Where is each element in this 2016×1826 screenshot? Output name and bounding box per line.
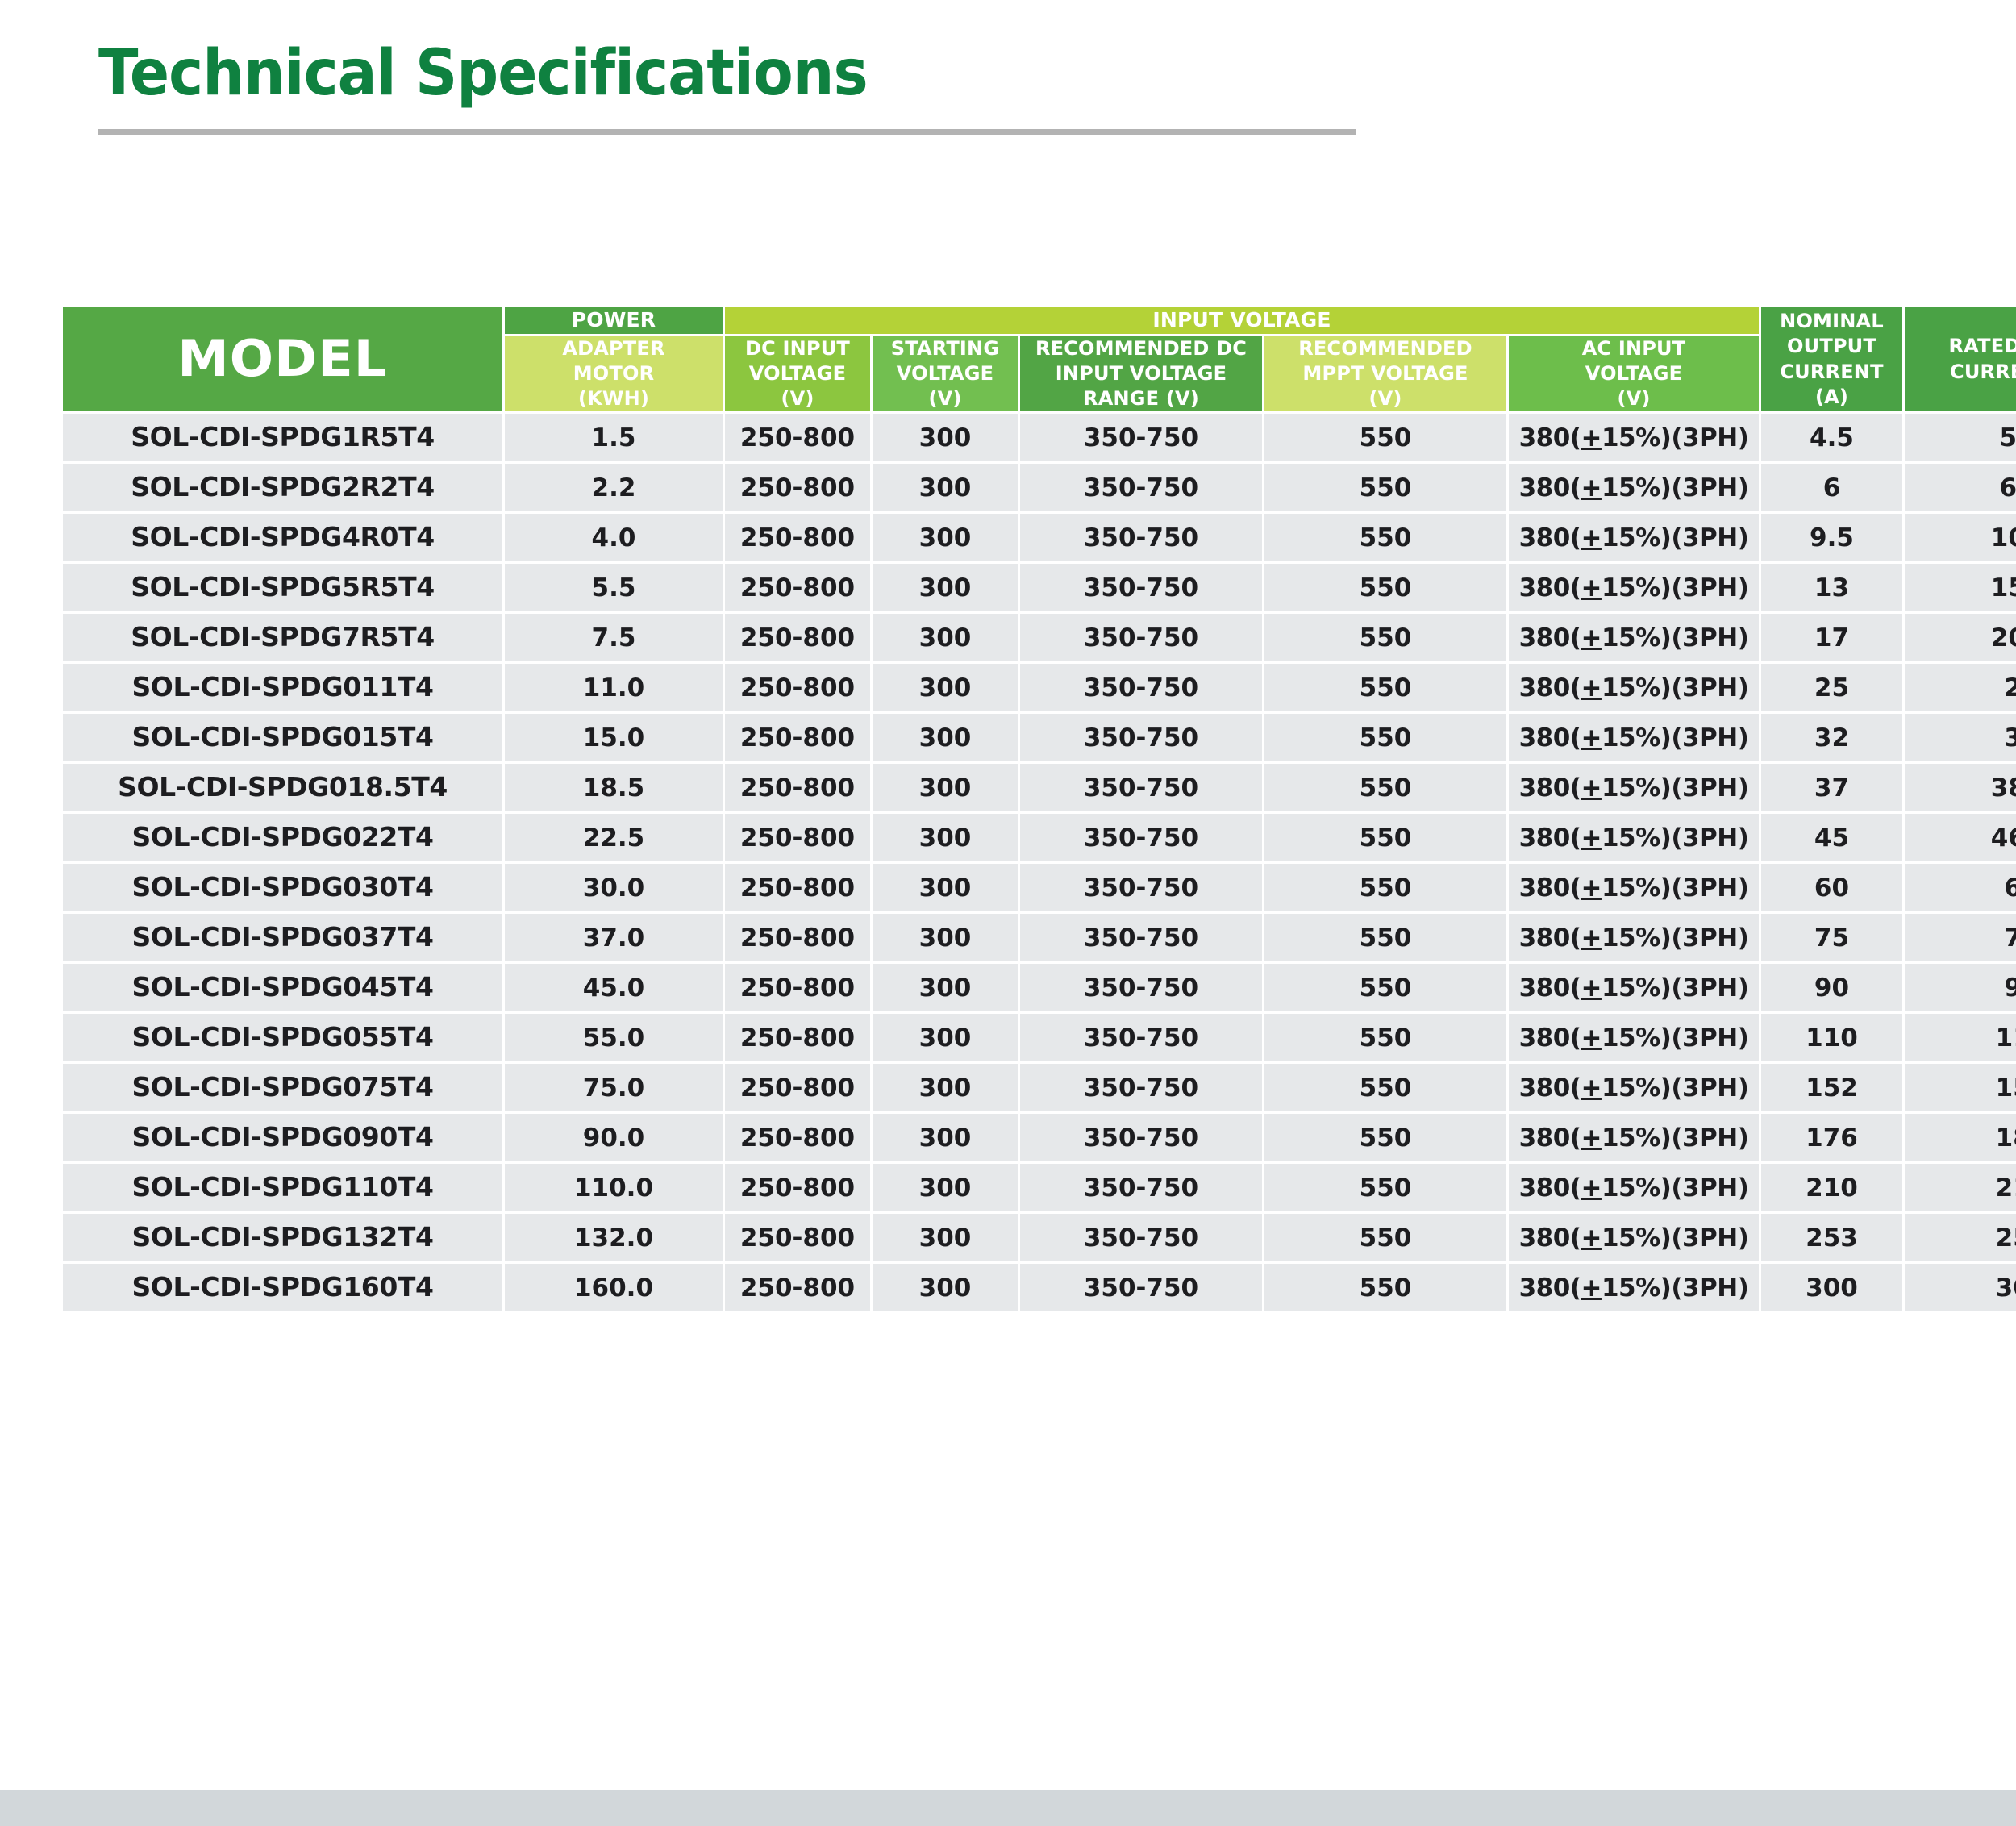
header-group-row: MODEL POWER INPUT VOLTAGE NOMINAL OUTPUT… — [63, 307, 2016, 334]
header-acin-line-2: (V) — [1509, 386, 1759, 411]
header-ac-input-voltage: AC INPUT VOLTAGE (V) — [1509, 336, 1759, 412]
table-head: MODEL POWER INPUT VOLTAGE NOMINAL OUTPUT… — [63, 307, 2016, 411]
header-dcin-line-0: DC INPUT — [725, 336, 870, 361]
cell-rated-input-current: 62 — [1905, 864, 2016, 911]
cell-nominal-output-current: 32 — [1761, 714, 1902, 761]
cell-model: SOL-CDI-SPDG132T4 — [63, 1214, 502, 1261]
cell-dc-input-voltage: 250-800 — [725, 814, 870, 861]
cell-model: SOL-CDI-SPDG2R2T4 — [63, 464, 502, 511]
cell-nominal-output-current: 9.5 — [1761, 514, 1902, 561]
cell-model: SOL-CDI-SPDG5R5T4 — [63, 564, 502, 611]
plus-minus-symbol: + — [1581, 623, 1601, 652]
cell-adapter-motor: 1.5 — [505, 414, 723, 461]
cell-ac-input-voltage: 380(+15%)(3PH) — [1509, 1264, 1759, 1311]
header-adapter-line-1: MOTOR — [505, 361, 723, 386]
cell-adapter-motor: 132.0 — [505, 1214, 723, 1261]
cell-ac-input-voltage: 380(+15%)(3PH) — [1509, 814, 1759, 861]
cell-adapter-motor: 15.0 — [505, 714, 723, 761]
cell-rated-input-current: 10.5 — [1905, 514, 2016, 561]
cell-recommended-mppt-voltage: 550 — [1264, 1114, 1506, 1161]
table-row: SOL-CDI-SPDG022T422.5250-800300350-75055… — [63, 814, 2016, 861]
cell-model: SOL-CDI-SPDG160T4 — [63, 1264, 502, 1311]
cell-model: SOL-CDI-SPDG4R0T4 — [63, 514, 502, 561]
cell-ac-input-voltage: 380(+15%)(3PH) — [1509, 1164, 1759, 1211]
header-start-line-0: STARTING — [873, 336, 1018, 361]
cell-nominal-output-current: 90 — [1761, 964, 1902, 1011]
header-model-label: MODEL — [177, 327, 387, 392]
cell-rated-input-current: 180 — [1905, 1114, 2016, 1161]
header-recommended-mppt-voltage: RECOMMENDED MPPT VOLTAGE (V) — [1264, 336, 1506, 412]
cell-ac-input-voltage: 380(+15%)(3PH) — [1509, 464, 1759, 511]
cell-recommended-mppt-voltage: 550 — [1264, 414, 1506, 461]
cell-recommended-mppt-voltage: 550 — [1264, 514, 1506, 561]
header-start-line-2: (V) — [873, 386, 1018, 411]
cell-dc-input-voltage: 250-800 — [725, 514, 870, 561]
header-mppt-line-0: RECOMMENDED — [1264, 336, 1506, 361]
cell-rated-input-current: 157 — [1905, 1064, 2016, 1111]
cell-rated-input-current: 214 — [1905, 1164, 2016, 1211]
cell-dc-input-voltage: 250-800 — [725, 464, 870, 511]
cell-recommended-mppt-voltage: 550 — [1264, 764, 1506, 811]
cell-adapter-motor: 75.0 — [505, 1064, 723, 1111]
plus-minus-symbol: + — [1581, 1074, 1601, 1103]
cell-starting-voltage: 300 — [873, 1064, 1018, 1111]
cell-recommended-dc-range: 350-750 — [1020, 1214, 1262, 1261]
table-row: SOL-CDI-SPDG090T490.0250-800300350-75055… — [63, 1114, 2016, 1161]
cell-ac-input-voltage: 380(+15%)(3PH) — [1509, 514, 1759, 561]
plus-minus-symbol: + — [1581, 1224, 1601, 1253]
header-power-group: POWER — [505, 307, 723, 334]
cell-recommended-dc-range: 350-750 — [1020, 1264, 1262, 1311]
table-row: SOL-CDI-SPDG160T4160.0250-800300350-7505… — [63, 1264, 2016, 1311]
cell-dc-input-voltage: 250-800 — [725, 664, 870, 711]
cell-adapter-motor: 7.5 — [505, 614, 723, 661]
page-title: Technical Specifications — [98, 42, 1268, 106]
cell-starting-voltage: 300 — [873, 864, 1018, 911]
cell-nominal-output-current: 210 — [1761, 1164, 1902, 1211]
cell-dc-input-voltage: 250-800 — [725, 414, 870, 461]
cell-recommended-dc-range: 350-750 — [1020, 1164, 1262, 1211]
plus-minus-symbol: + — [1581, 423, 1601, 452]
plus-minus-symbol: + — [1581, 1174, 1601, 1203]
cell-starting-voltage: 300 — [873, 1114, 1018, 1161]
cell-nominal-output-current: 25 — [1761, 664, 1902, 711]
cell-dc-input-voltage: 250-800 — [725, 614, 870, 661]
header-recommended-dc-input-voltage-range: RECOMMENDED DC INPUT VOLTAGE RANGE (V) — [1020, 336, 1262, 412]
cell-starting-voltage: 300 — [873, 1214, 1018, 1261]
cell-recommended-dc-range: 350-750 — [1020, 614, 1262, 661]
cell-starting-voltage: 300 — [873, 414, 1018, 461]
header-input-voltage-group: INPUT VOLTAGE — [725, 307, 1759, 334]
cell-starting-voltage: 300 — [873, 814, 1018, 861]
cell-starting-voltage: 300 — [873, 464, 1018, 511]
cell-adapter-motor: 30.0 — [505, 864, 723, 911]
table-row: SOL-CDI-SPDG037T437.0250-800300350-75055… — [63, 914, 2016, 961]
header-recdc-line-2: RANGE (V) — [1020, 386, 1262, 411]
header-nominal-output-current: NOMINAL OUTPUT CURRENT (A) — [1761, 307, 1902, 411]
cell-adapter-motor: 110.0 — [505, 1164, 723, 1211]
cell-rated-input-current: 92 — [1905, 964, 2016, 1011]
plus-minus-symbol: + — [1581, 823, 1601, 853]
header-model: MODEL — [63, 307, 502, 411]
cell-starting-voltage: 300 — [873, 1164, 1018, 1211]
cell-model: SOL-CDI-SPDG018.5T4 — [63, 764, 502, 811]
header-adapter-motor: ADAPTER MOTOR (kWh) — [505, 336, 723, 412]
header-acin-line-1: VOLTAGE — [1509, 361, 1759, 386]
cell-adapter-motor: 160.0 — [505, 1264, 723, 1311]
cell-dc-input-voltage: 250-800 — [725, 564, 870, 611]
cell-rated-input-current: 76 — [1905, 914, 2016, 961]
cell-rated-input-current: 20.5 — [1905, 614, 2016, 661]
cell-recommended-dc-range: 350-750 — [1020, 1114, 1262, 1161]
cell-dc-input-voltage: 250-800 — [725, 714, 870, 761]
cell-dc-input-voltage: 250-800 — [725, 864, 870, 911]
cell-ac-input-voltage: 380(+15%)(3PH) — [1509, 1064, 1759, 1111]
cell-adapter-motor: 22.5 — [505, 814, 723, 861]
table-row: SOL-CDI-SPDG011T411.0250-800300350-75055… — [63, 664, 2016, 711]
specifications-table-wrap: MODEL POWER INPUT VOLTAGE NOMINAL OUTPUT… — [60, 305, 2016, 1314]
cell-adapter-motor: 45.0 — [505, 964, 723, 1011]
cell-recommended-mppt-voltage: 550 — [1264, 964, 1506, 1011]
table-body: SOL-CDI-SPDG1R5T41.5250-800300350-750550… — [63, 414, 2016, 1311]
cell-rated-input-current: 256 — [1905, 1214, 2016, 1261]
cell-recommended-mppt-voltage: 550 — [1264, 1164, 1506, 1211]
table-row: SOL-CDI-SPDG7R5T47.5250-800300350-750550… — [63, 614, 2016, 661]
plus-minus-symbol: + — [1581, 973, 1601, 1003]
cell-dc-input-voltage: 250-800 — [725, 1264, 870, 1311]
cell-rated-input-current: 15.5 — [1905, 564, 2016, 611]
plus-minus-symbol: + — [1581, 523, 1601, 552]
cell-ac-input-voltage: 380(+15%)(3PH) — [1509, 1114, 1759, 1161]
cell-adapter-motor: 11.0 — [505, 664, 723, 711]
cell-ac-input-voltage: 380(+15%)(3PH) — [1509, 1214, 1759, 1261]
plus-minus-symbol: + — [1581, 723, 1601, 752]
cell-starting-voltage: 300 — [873, 1014, 1018, 1061]
specification-page: Technical Specifications MODEL — [0, 0, 2016, 1826]
table-row: SOL-CDI-SPDG030T430.0250-800300350-75055… — [63, 864, 2016, 911]
cell-model: SOL-CDI-SPDG030T4 — [63, 864, 502, 911]
table-row: SOL-CDI-SPDG5R5T45.5250-800300350-750550… — [63, 564, 2016, 611]
header-nominal-line-3: (A) — [1761, 385, 1902, 410]
cell-model: SOL-CDI-SPDG022T4 — [63, 814, 502, 861]
cell-recommended-dc-range: 350-750 — [1020, 764, 1262, 811]
cell-rated-input-current: 35 — [1905, 714, 2016, 761]
table-row: SOL-CDI-SPDG1R5T41.5250-800300350-750550… — [63, 414, 2016, 461]
cell-model: SOL-CDI-SPDG090T4 — [63, 1114, 502, 1161]
table-row: SOL-CDI-SPDG075T475.0250-800300350-75055… — [63, 1064, 2016, 1111]
cell-dc-input-voltage: 250-800 — [725, 1214, 870, 1261]
plus-minus-symbol: + — [1581, 873, 1601, 903]
table-row: SOL-CDI-SPDG110T4110.0250-800300350-7505… — [63, 1164, 2016, 1211]
cell-model: SOL-CDI-SPDG110T4 — [63, 1164, 502, 1211]
header-mppt-line-1: MPPT VOLTAGE — [1264, 361, 1506, 386]
cell-recommended-mppt-voltage: 550 — [1264, 1014, 1506, 1061]
cell-model: SOL-CDI-SPDG7R5T4 — [63, 614, 502, 661]
cell-nominal-output-current: 152 — [1761, 1064, 1902, 1111]
cell-starting-voltage: 300 — [873, 964, 1018, 1011]
cell-nominal-output-current: 45 — [1761, 814, 1902, 861]
cell-recommended-mppt-voltage: 550 — [1264, 914, 1506, 961]
header-recdc-line-0: RECOMMENDED DC — [1020, 336, 1262, 361]
cell-recommended-mppt-voltage: 550 — [1264, 714, 1506, 761]
table-row: SOL-CDI-SPDG4R0T44.0250-800300350-750550… — [63, 514, 2016, 561]
header-rated-line-1: CURRENT (A) — [1905, 360, 2016, 385]
cell-adapter-motor: 18.5 — [505, 764, 723, 811]
cell-model: SOL-CDI-SPDG055T4 — [63, 1014, 502, 1061]
cell-adapter-motor: 2.2 — [505, 464, 723, 511]
cell-ac-input-voltage: 380(+15%)(3PH) — [1509, 964, 1759, 1011]
cell-nominal-output-current: 37 — [1761, 764, 1902, 811]
cell-nominal-output-current: 17 — [1761, 614, 1902, 661]
cell-ac-input-voltage: 380(+15%)(3PH) — [1509, 664, 1759, 711]
cell-dc-input-voltage: 250-800 — [725, 1164, 870, 1211]
cell-nominal-output-current: 60 — [1761, 864, 1902, 911]
cell-nominal-output-current: 4.5 — [1761, 414, 1902, 461]
cell-starting-voltage: 300 — [873, 764, 1018, 811]
cell-recommended-dc-range: 350-750 — [1020, 964, 1262, 1011]
cell-ac-input-voltage: 380(+15%)(3PH) — [1509, 764, 1759, 811]
header-recdc-line-1: INPUT VOLTAGE — [1020, 361, 1262, 386]
cell-nominal-output-current: 176 — [1761, 1114, 1902, 1161]
plus-minus-symbol: + — [1581, 673, 1601, 702]
cell-starting-voltage: 300 — [873, 914, 1018, 961]
cell-recommended-dc-range: 350-750 — [1020, 414, 1262, 461]
cell-starting-voltage: 300 — [873, 514, 1018, 561]
cell-rated-input-current: 113 — [1905, 1014, 2016, 1061]
cell-recommended-dc-range: 350-750 — [1020, 1064, 1262, 1111]
table-row: SOL-CDI-SPDG018.5T418.5250-800300350-750… — [63, 764, 2016, 811]
cell-rated-input-current: 6.8 — [1905, 464, 2016, 511]
cell-recommended-mppt-voltage: 550 — [1264, 664, 1506, 711]
cell-starting-voltage: 300 — [873, 614, 1018, 661]
header-dcin-line-2: (V) — [725, 386, 870, 411]
cell-nominal-output-current: 110 — [1761, 1014, 1902, 1061]
cell-recommended-dc-range: 350-750 — [1020, 714, 1262, 761]
specifications-table: MODEL POWER INPUT VOLTAGE NOMINAL OUTPUT… — [60, 305, 2016, 1314]
cell-adapter-motor: 5.5 — [505, 564, 723, 611]
header-nominal-line-2: CURRENT — [1761, 360, 1902, 385]
cell-nominal-output-current: 253 — [1761, 1214, 1902, 1261]
cell-starting-voltage: 300 — [873, 714, 1018, 761]
plus-minus-symbol: + — [1581, 1023, 1601, 1053]
cell-recommended-mppt-voltage: 550 — [1264, 1214, 1506, 1261]
table-row: SOL-CDI-SPDG015T415.0250-800300350-75055… — [63, 714, 2016, 761]
cell-dc-input-voltage: 250-800 — [725, 1014, 870, 1061]
header-dc-input-voltage: DC INPUT VOLTAGE (V) — [725, 336, 870, 412]
title-block: Technical Specifications — [98, 42, 1356, 135]
cell-ac-input-voltage: 380(+15%)(3PH) — [1509, 614, 1759, 661]
cell-rated-input-current: 38.5 — [1905, 764, 2016, 811]
title-divider — [98, 129, 1356, 135]
cell-dc-input-voltage: 250-800 — [725, 1064, 870, 1111]
cell-model: SOL-CDI-SPDG011T4 — [63, 664, 502, 711]
plus-minus-symbol: + — [1581, 1274, 1601, 1303]
cell-recommended-dc-range: 350-750 — [1020, 664, 1262, 711]
cell-nominal-output-current: 75 — [1761, 914, 1902, 961]
table-row: SOL-CDI-SPDG055T455.0250-800300350-75055… — [63, 1014, 2016, 1061]
cell-recommended-mppt-voltage: 550 — [1264, 564, 1506, 611]
cell-recommended-dc-range: 350-750 — [1020, 564, 1262, 611]
header-dcin-line-1: VOLTAGE — [725, 361, 870, 386]
cell-ac-input-voltage: 380(+15%)(3PH) — [1509, 714, 1759, 761]
header-acin-line-0: AC INPUT — [1509, 336, 1759, 361]
header-adapter-line-2: (kWh) — [505, 386, 723, 411]
cell-dc-input-voltage: 250-800 — [725, 764, 870, 811]
table-row: SOL-CDI-SPDG045T445.0250-800300350-75055… — [63, 964, 2016, 1011]
cell-starting-voltage: 300 — [873, 564, 1018, 611]
cell-recommended-dc-range: 350-750 — [1020, 514, 1262, 561]
cell-recommended-mppt-voltage: 550 — [1264, 614, 1506, 661]
cell-recommended-dc-range: 350-750 — [1020, 864, 1262, 911]
cell-ac-input-voltage: 380(+15%)(3PH) — [1509, 914, 1759, 961]
cell-nominal-output-current: 13 — [1761, 564, 1902, 611]
cell-recommended-dc-range: 350-750 — [1020, 464, 1262, 511]
cell-model: SOL-CDI-SPDG037T4 — [63, 914, 502, 961]
cell-model: SOL-CDI-SPDG015T4 — [63, 714, 502, 761]
plus-minus-symbol: + — [1581, 473, 1601, 502]
cell-model: SOL-CDI-SPDG1R5T4 — [63, 414, 502, 461]
cell-dc-input-voltage: 250-800 — [725, 964, 870, 1011]
header-rated-line-0: RATED INPUT — [1905, 334, 2016, 359]
cell-rated-input-current: 5.0 — [1905, 414, 2016, 461]
footer-bar — [0, 1790, 2016, 1826]
plus-minus-symbol: + — [1581, 573, 1601, 602]
cell-recommended-mppt-voltage: 550 — [1264, 464, 1506, 511]
cell-starting-voltage: 300 — [873, 1264, 1018, 1311]
plus-minus-symbol: + — [1581, 1124, 1601, 1153]
header-nominal-line-1: OUTPUT — [1761, 334, 1902, 359]
cell-nominal-output-current: 300 — [1761, 1264, 1902, 1311]
table-row: SOL-CDI-SPDG2R2T42.2250-800300350-750550… — [63, 464, 2016, 511]
cell-rated-input-current: 46.5 — [1905, 814, 2016, 861]
cell-recommended-dc-range: 350-750 — [1020, 814, 1262, 861]
plus-minus-symbol: + — [1581, 773, 1601, 803]
cell-ac-input-voltage: 380(+15%)(3PH) — [1509, 1014, 1759, 1061]
cell-ac-input-voltage: 380(+15%)(3PH) — [1509, 564, 1759, 611]
cell-rated-input-current: 305 — [1905, 1264, 2016, 1311]
cell-recommended-mppt-voltage: 550 — [1264, 1264, 1506, 1311]
header-rated-input-current: RATED INPUT CURRENT (A) — [1905, 307, 2016, 411]
cell-rated-input-current: 26 — [1905, 664, 2016, 711]
header-start-line-1: VOLTAGE — [873, 361, 1018, 386]
cell-ac-input-voltage: 380(+15%)(3PH) — [1509, 864, 1759, 911]
cell-adapter-motor: 37.0 — [505, 914, 723, 961]
cell-recommended-mppt-voltage: 550 — [1264, 814, 1506, 861]
cell-starting-voltage: 300 — [873, 664, 1018, 711]
cell-recommended-dc-range: 350-750 — [1020, 1014, 1262, 1061]
cell-dc-input-voltage: 250-800 — [725, 1114, 870, 1161]
cell-recommended-dc-range: 350-750 — [1020, 914, 1262, 961]
table-row: SOL-CDI-SPDG132T4132.0250-800300350-7505… — [63, 1214, 2016, 1261]
cell-adapter-motor: 4.0 — [505, 514, 723, 561]
cell-ac-input-voltage: 380(+15%)(3PH) — [1509, 414, 1759, 461]
cell-dc-input-voltage: 250-800 — [725, 914, 870, 961]
cell-model: SOL-CDI-SPDG045T4 — [63, 964, 502, 1011]
header-starting-voltage: STARTING VOLTAGE (V) — [873, 336, 1018, 412]
cell-adapter-motor: 90.0 — [505, 1114, 723, 1161]
cell-recommended-mppt-voltage: 550 — [1264, 1064, 1506, 1111]
cell-nominal-output-current: 6 — [1761, 464, 1902, 511]
plus-minus-symbol: + — [1581, 923, 1601, 953]
header-mppt-line-2: (V) — [1264, 386, 1506, 411]
cell-adapter-motor: 55.0 — [505, 1014, 723, 1061]
cell-recommended-mppt-voltage: 550 — [1264, 864, 1506, 911]
header-adapter-line-0: ADAPTER — [505, 336, 723, 361]
cell-model: SOL-CDI-SPDG075T4 — [63, 1064, 502, 1111]
header-nominal-line-0: NOMINAL — [1761, 309, 1902, 334]
